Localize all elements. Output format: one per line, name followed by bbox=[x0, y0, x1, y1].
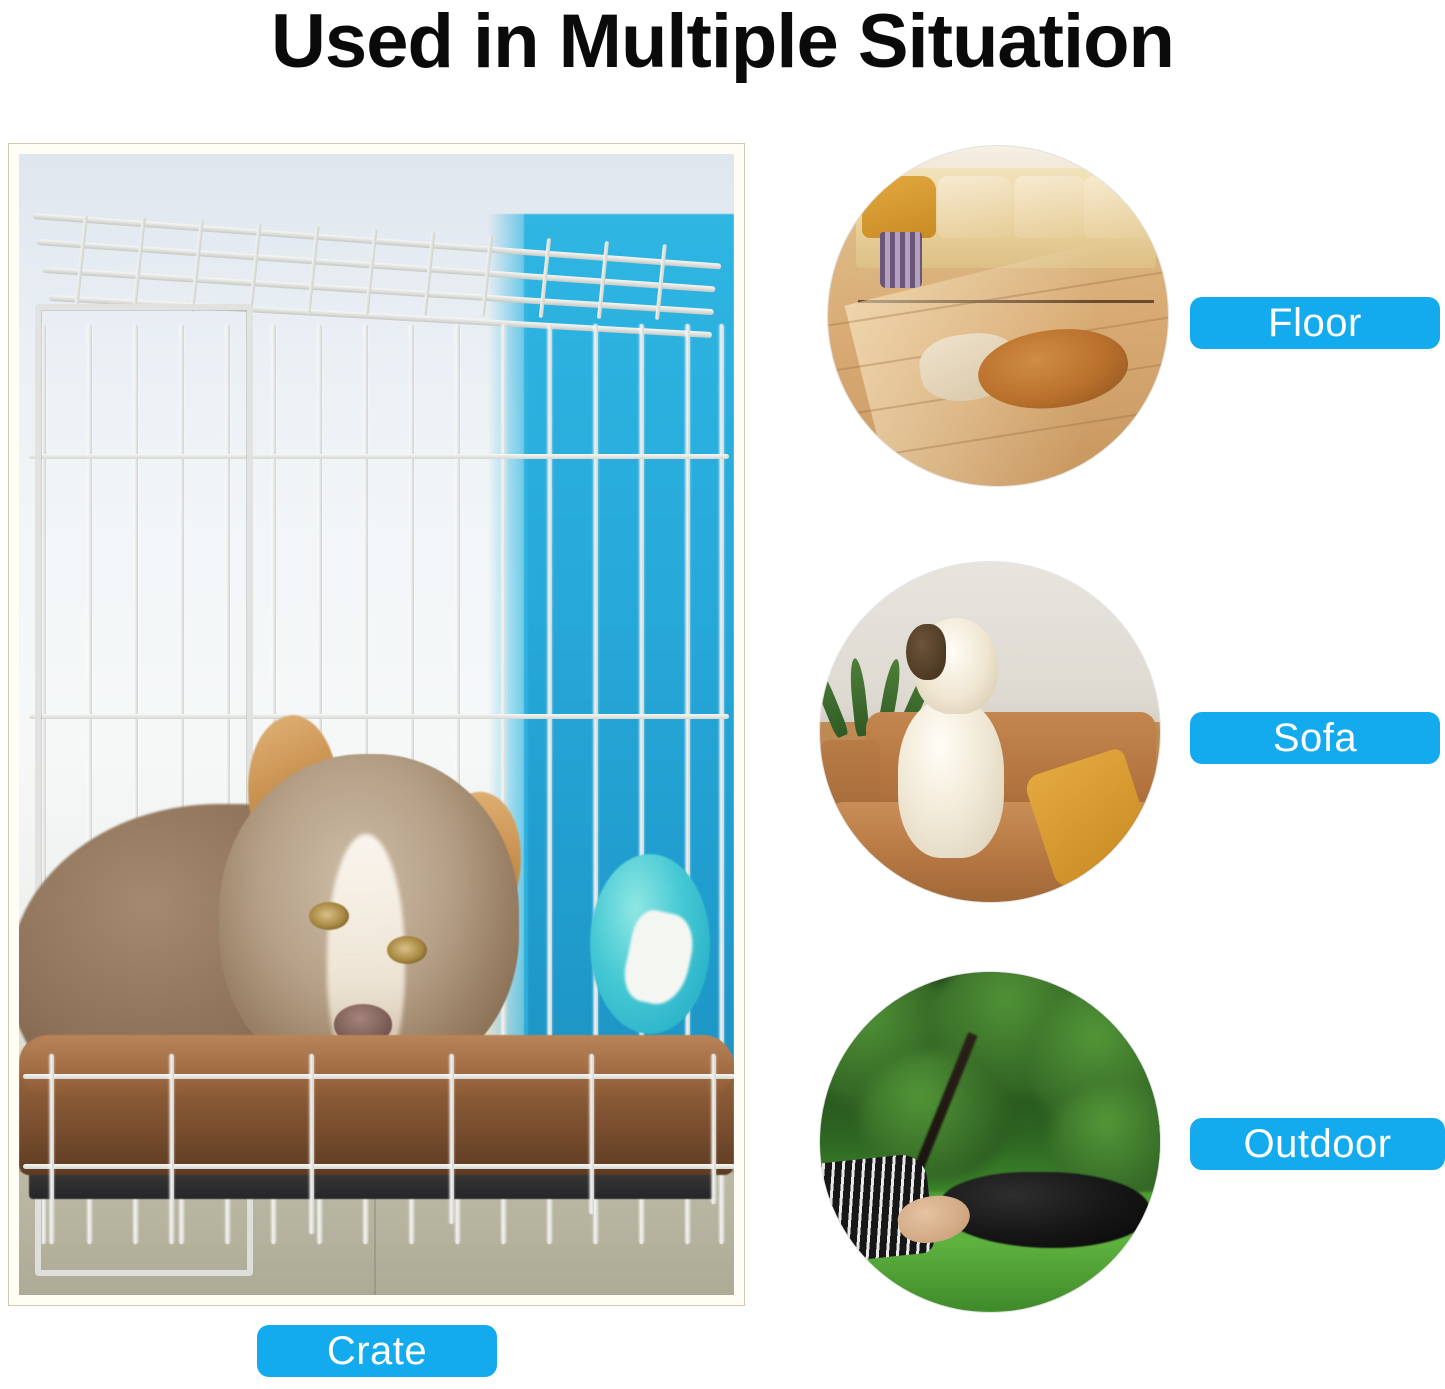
page-title: Used in Multiple Situation bbox=[0, 0, 1445, 88]
scene-outdoor bbox=[820, 972, 1160, 1312]
label-floor: Floor bbox=[1190, 297, 1440, 349]
scene-floor-image bbox=[828, 146, 1168, 486]
label-sofa: Sofa bbox=[1190, 712, 1440, 764]
crate-photo-frame bbox=[8, 143, 745, 1306]
label-outdoor: Outdoor bbox=[1190, 1118, 1445, 1170]
scene-floor bbox=[828, 146, 1168, 486]
label-crate: Crate bbox=[257, 1325, 497, 1377]
scene-sofa-image bbox=[820, 562, 1160, 902]
crate-front-rails bbox=[19, 154, 734, 1295]
scene-sofa bbox=[820, 562, 1160, 902]
scene-outdoor-image bbox=[820, 972, 1160, 1312]
crate-photo bbox=[19, 154, 734, 1295]
